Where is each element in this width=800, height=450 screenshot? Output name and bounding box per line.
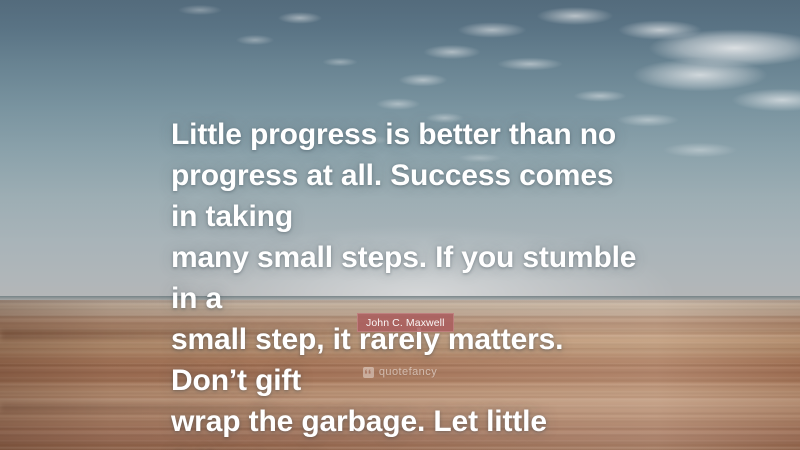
- quote-text: Little progress is better than no progre…: [171, 114, 641, 450]
- quote-block: Little progress is better than no progre…: [171, 114, 641, 450]
- quote-mark-icon: [363, 367, 374, 378]
- quote-image-canvas: Little progress is better than no progre…: [0, 0, 800, 450]
- watermark[interactable]: quotefancy: [0, 366, 800, 378]
- author-name: John C. Maxwell: [366, 317, 445, 329]
- author-badge: John C. Maxwell: [357, 313, 454, 332]
- watermark-brand: quotefancy: [379, 366, 437, 378]
- overlay-content: Little progress is better than no progre…: [0, 0, 800, 450]
